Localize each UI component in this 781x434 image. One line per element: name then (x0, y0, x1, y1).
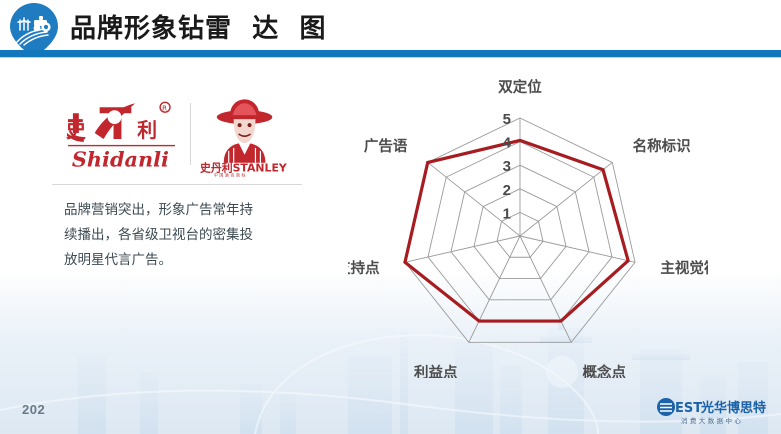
description-line-3: 放明星代言广告。 (64, 248, 282, 273)
svg-text:利: 利 (137, 119, 157, 142)
svg-text:消费大数据中心: 消费大数据中心 (681, 416, 743, 425)
radar-tick-3: 3 (503, 158, 511, 175)
page-title-sub: 雷 达 图 (205, 13, 332, 43)
svg-text:EST: EST (675, 401, 702, 416)
svg-text:中国驰名商标: 中国驰名商标 (214, 173, 247, 177)
svg-text:光华博思特: 光华博思特 (700, 400, 766, 416)
brand-logo-group: 史 利 R Shidanli (62, 90, 292, 178)
description-line-2: 续播出，各省级卫视台的密集投 (64, 223, 282, 248)
radar-series-polygon (405, 140, 628, 321)
svg-text:R: R (162, 105, 167, 113)
radar-grid (405, 118, 635, 342)
description-line-1: 品牌营销突出，形象广告常年持 (64, 198, 282, 223)
description-paragraph: 品牌营销突出，形象广告常年持 续播出，各省级卫视台的密集投 放明星代言广告。 (64, 198, 282, 273)
radar-chart-svg: 12345 双定位名称标识主视觉符号概念点利益点支持点广告语 (348, 78, 708, 378)
brand-underline (52, 184, 302, 185)
best-company-logo: EST 光华博思特 消费大数据中心 (655, 396, 775, 428)
brand-divider (190, 103, 191, 165)
radar-axis-label-4: 利益点 (414, 364, 458, 378)
radar-data-polygon (405, 140, 628, 321)
svg-text:史: 史 (66, 119, 86, 142)
page-title-main: 品牌形象钻 (70, 13, 205, 43)
radar-axis-label-2: 主视觉符号 (660, 259, 708, 277)
radar-axis-label-3: 概念点 (582, 364, 626, 378)
radar-category-labels: 双定位名称标识主视觉符号概念点利益点支持点广告语 (348, 78, 708, 378)
header-thin-rule (0, 57, 781, 58)
radar-axis-label-0: 双定位 (498, 78, 542, 96)
page-title: 品牌形象钻雷 达 图 (70, 8, 332, 45)
radar-tick-labels: 12345 (503, 111, 512, 222)
svg-text:Shidanli: Shidanli (72, 147, 169, 172)
radar-tick-4: 4 (503, 135, 512, 152)
radar-tick-5: 5 (503, 111, 511, 128)
radar-tick-1: 1 (503, 205, 511, 222)
radar-axis-label-6: 广告语 (364, 137, 408, 155)
best-roundel-icon (657, 398, 675, 416)
radar-axis-label-5: 支持点 (348, 259, 380, 277)
slide-header: 品牌形象钻雷 达 图 (0, 0, 781, 52)
stanley-mascot-logo: 史丹利STANLEY 中国驰名商标 (197, 91, 292, 177)
radar-spoke-3 (520, 236, 571, 342)
header-accent-rule (0, 50, 781, 57)
radar-tick-2: 2 (503, 182, 511, 199)
shidanli-wordmark-logo: 史 利 R Shidanli (62, 91, 184, 177)
radar-axis-label-1: 名称标识 (633, 137, 691, 155)
radar-spoke-4 (469, 236, 520, 342)
radar-chart: 12345 双定位名称标识主视觉符号概念点利益点支持点广告语 (348, 78, 708, 378)
page-number: 202 (22, 402, 45, 417)
